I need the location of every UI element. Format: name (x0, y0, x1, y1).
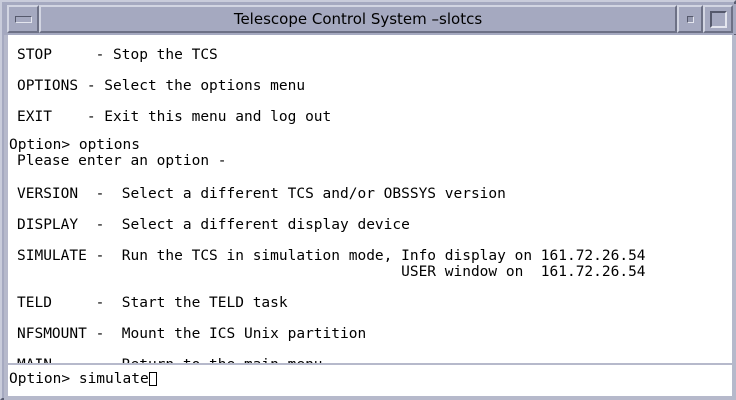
terminal-line: OPTIONS - Select the options menu (8, 78, 305, 94)
command-input[interactable]: simulate (79, 371, 149, 387)
text-cursor (149, 372, 157, 386)
terminal-line: STOP - Stop the TCS (8, 47, 218, 63)
title-bar[interactable]: Telescope Control System –slotcs (4, 4, 736, 34)
terminal-line-echo: Option> options (8, 137, 140, 153)
application-window: Telescope Control System –slotcs STOP - … (0, 0, 736, 400)
iconify-button[interactable] (677, 5, 703, 33)
minimize-button[interactable] (7, 5, 39, 33)
maximize-button[interactable] (703, 5, 733, 33)
page-title: Telescope Control System –slotcs (234, 10, 482, 28)
terminal-line: DISPLAY - Select a different display dev… (8, 217, 410, 233)
prompt-label: Option> (9, 371, 79, 387)
small-square-icon (687, 16, 694, 23)
terminal-line: VERSION - Select a different TCS and/or … (8, 186, 506, 202)
maximize-square-icon (710, 11, 727, 28)
terminal-line: SIMULATE - Run the TCS in simulation mod… (8, 248, 646, 264)
terminal-line: Please enter an option - (8, 153, 227, 169)
minimize-bar-icon (15, 16, 32, 23)
terminal-prompt-region[interactable]: Option> simulate (8, 365, 732, 396)
terminal-inner: STOP - Stop the TCS OPTIONS - Select the… (8, 35, 732, 396)
terminal-window[interactable]: STOP - Stop the TCS OPTIONS - Select the… (4, 35, 736, 400)
terminal-line: TELD - Start the TELD task (8, 295, 288, 311)
terminal-line: NFSMOUNT - Mount the ICS Unix partition (8, 326, 366, 342)
terminal-line: EXIT - Exit this menu and log out (8, 109, 331, 125)
command-prompt-line[interactable]: Option> simulate (8, 371, 157, 387)
terminal-line: USER window on 161.72.26.54 (8, 264, 646, 280)
window-title-field: Telescope Control System –slotcs (39, 5, 677, 33)
terminal-scrollback: STOP - Stop the TCS OPTIONS - Select the… (8, 35, 732, 363)
